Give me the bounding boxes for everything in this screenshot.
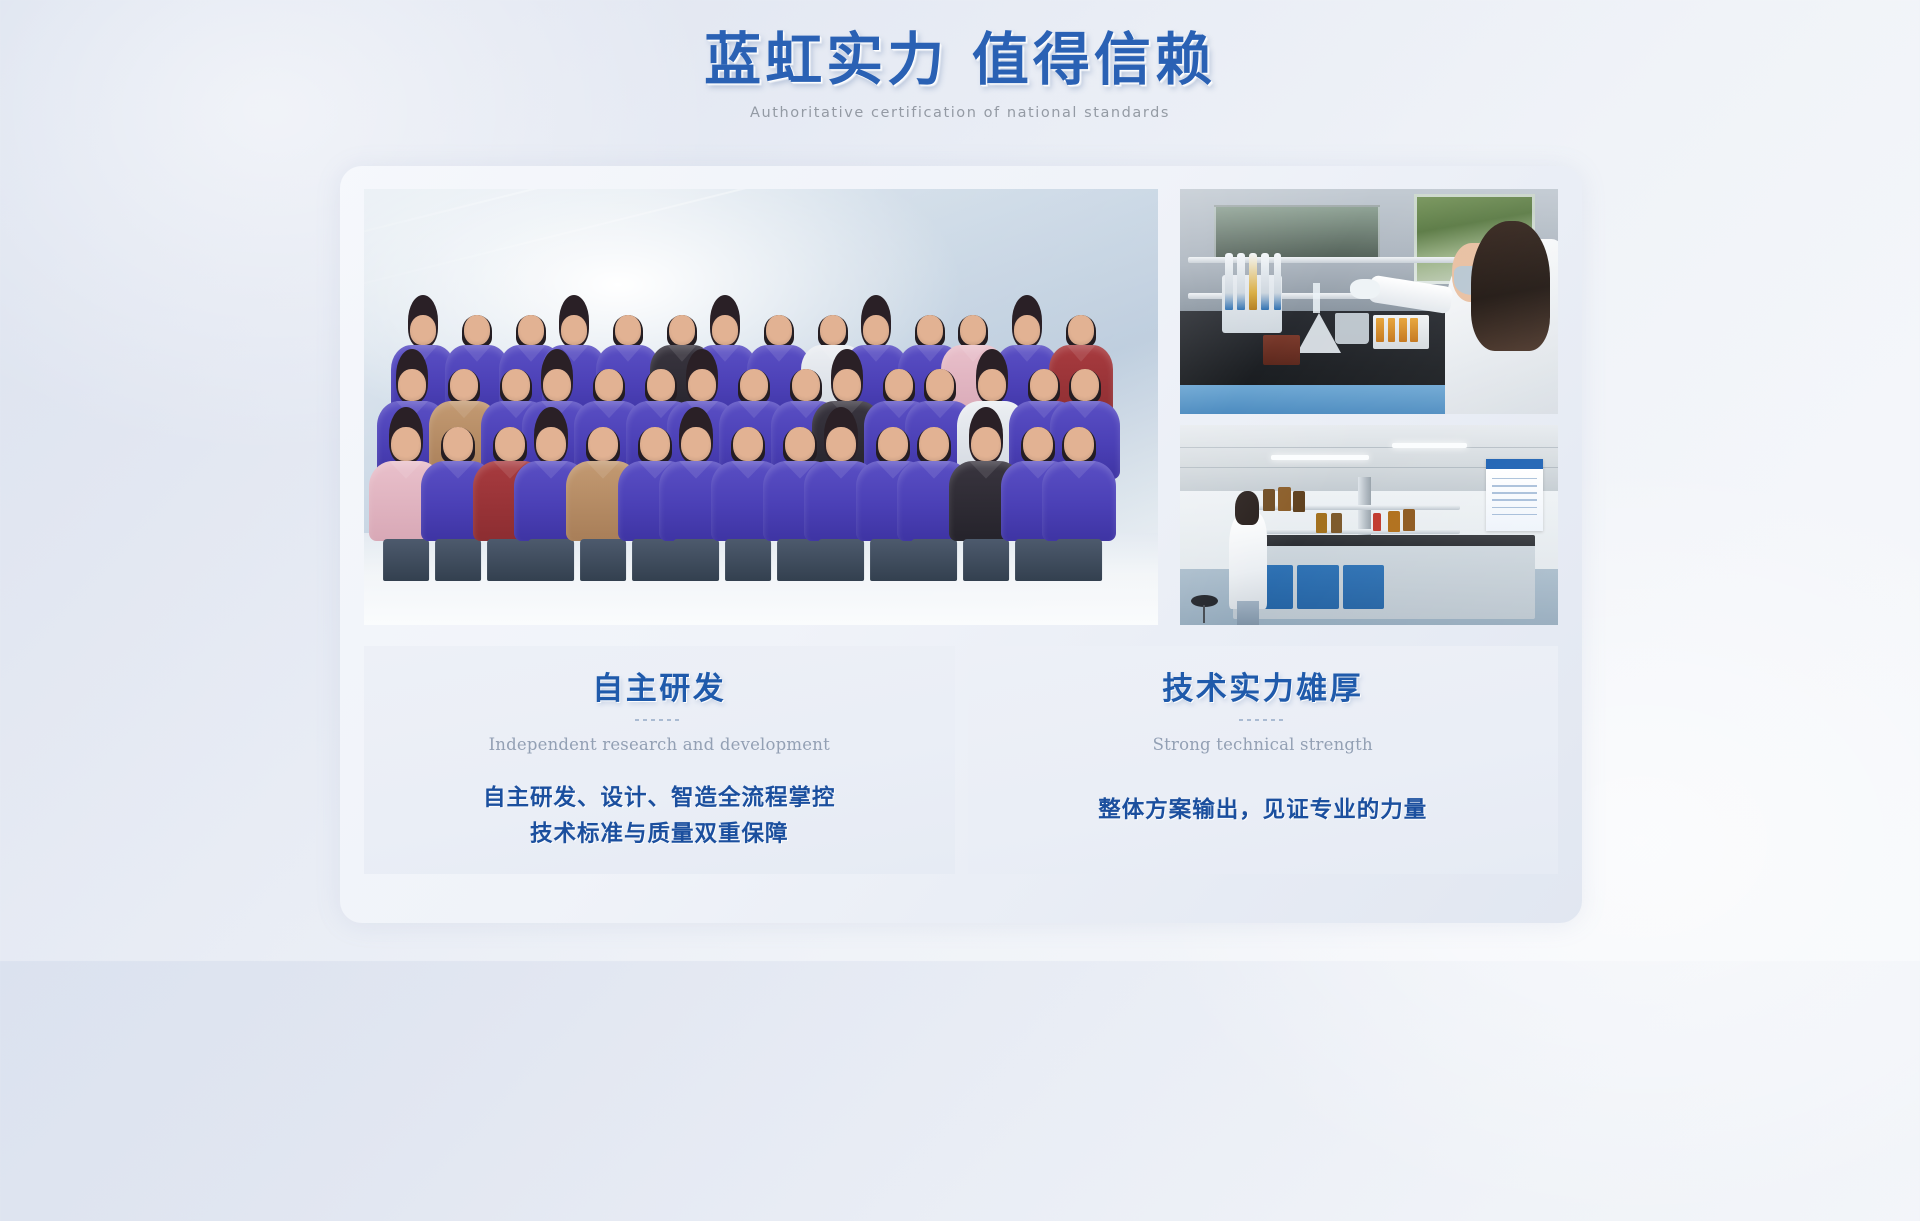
team-member-legs <box>911 539 957 581</box>
dashed-divider <box>635 719 683 721</box>
team-member-legs <box>528 539 574 581</box>
team-member-collar <box>738 401 770 418</box>
lab-b-technician-coat <box>1229 513 1267 609</box>
team-member-head <box>712 315 738 345</box>
laboratory-room-photo <box>1180 425 1558 625</box>
team-member-collar <box>1069 401 1101 418</box>
team-member-head <box>669 315 695 345</box>
team-member-legs <box>725 539 771 581</box>
team-member-collar <box>924 401 956 418</box>
lab-b-reagent-bottle <box>1388 511 1400 532</box>
team-group-photo <box>364 189 1158 625</box>
team-member-legs <box>870 539 916 581</box>
lab-a-reagent-bottle <box>1278 335 1300 365</box>
lab-a-flask-neck <box>1313 283 1320 313</box>
page-header: 蓝虹实力 值得信赖 Authoritative certification of… <box>0 26 1920 121</box>
team-member-head <box>960 315 986 345</box>
team-member-collar <box>441 461 475 479</box>
team-member-head <box>766 315 792 345</box>
team-member-legs <box>777 539 823 581</box>
team-member-legs <box>580 539 626 581</box>
page-title: 蓝虹实力 值得信赖 <box>0 26 1920 94</box>
lab-b-shelf <box>1240 529 1459 534</box>
team-member-collar <box>679 461 713 479</box>
laboratory-technician-photo <box>1180 189 1558 414</box>
team-member-head <box>917 315 943 345</box>
team-member-collar <box>593 401 625 418</box>
team-member-collar <box>534 461 568 479</box>
team-member-head <box>833 369 861 401</box>
team-member-collar <box>613 345 642 362</box>
content-panel: 自主研发 Independent research and developmen… <box>340 166 1582 923</box>
team-member-legs <box>963 539 1009 581</box>
feature-card-subtitle: Independent research and development <box>364 735 955 754</box>
feature-card-subtitle: Strong technical strength <box>968 735 1559 754</box>
team-member-head <box>615 315 641 345</box>
lab-b-reagent-bottle <box>1331 513 1342 533</box>
team-member-collar <box>917 461 951 479</box>
team-member-head <box>588 427 618 461</box>
feature-card-description: 整体方案输出，见证专业的力量 <box>968 792 1559 828</box>
media-gallery <box>364 189 1558 625</box>
team-members-crowd <box>364 271 1158 571</box>
team-member-collar <box>764 345 793 362</box>
team-member-collar <box>824 461 858 479</box>
team-member-head <box>1064 427 1094 461</box>
lab-b-reagent-bottle <box>1293 491 1305 512</box>
team-member-legs <box>818 539 864 581</box>
team-member-collar <box>1012 345 1041 362</box>
lab-b-ceiling-light <box>1392 443 1468 448</box>
lab-a-technician-hair <box>1471 221 1550 352</box>
team-member-head <box>595 369 623 401</box>
team-member-head <box>826 427 856 461</box>
team-member-head <box>733 427 763 461</box>
page-subtitle: Authoritative certification of national … <box>0 105 1920 121</box>
team-member-legs <box>435 539 481 581</box>
team-member-collar <box>586 461 620 479</box>
team-member-head <box>443 427 473 461</box>
team-member-head <box>978 369 1006 401</box>
team-member-head <box>398 369 426 401</box>
lab-a-technician-glove <box>1350 279 1380 299</box>
team-member-legs <box>1056 539 1102 581</box>
feature-card-description-line: 自主研发、设计、智造全流程掌控 <box>483 785 836 811</box>
team-member-head <box>688 369 716 401</box>
team-member-head <box>410 315 436 345</box>
lab-b-cabinet-drawer <box>1297 565 1339 609</box>
lab-b-ceiling-grid-line <box>1180 447 1558 448</box>
team-member-head <box>971 427 1001 461</box>
team-member-collar <box>1066 345 1095 362</box>
lab-b-reagent-bottle <box>1373 513 1381 531</box>
feature-cards: 自主研发 Independent research and developmen… <box>364 646 1558 874</box>
dashed-divider <box>1239 719 1287 721</box>
team-member-legs <box>1015 539 1061 581</box>
team-member-collar <box>389 461 423 479</box>
team-member-collar <box>462 345 491 362</box>
team-member-head <box>561 315 587 345</box>
feature-card-title: 技术实力雄厚 <box>968 670 1559 709</box>
lab-b-reagent-bottle <box>1316 513 1327 533</box>
team-member-head <box>391 427 421 461</box>
lab-a-pipette-stand <box>1222 275 1282 334</box>
team-member-head <box>536 427 566 461</box>
feature-card-title: 自主研发 <box>364 670 955 709</box>
lab-b-cabinet-drawer <box>1343 565 1385 609</box>
feature-card-independent-rd: 自主研发 Independent research and developmen… <box>364 646 955 874</box>
team-member-head <box>518 315 544 345</box>
team-member-legs <box>487 539 533 581</box>
team-member-head <box>820 315 846 345</box>
team-member-head <box>543 369 571 401</box>
team-member-head <box>926 369 954 401</box>
lab-b-reagent-bottle <box>1403 509 1415 531</box>
lab-a-beaker <box>1335 313 1369 345</box>
team-member-legs <box>673 539 719 581</box>
team-member-head <box>464 315 490 345</box>
lab-b-notice-board <box>1486 459 1543 531</box>
team-member-head <box>1068 315 1094 345</box>
lab-b-ceiling-light <box>1271 455 1369 460</box>
lab-b-reagent-bottle <box>1263 489 1275 511</box>
team-member-head <box>740 369 768 401</box>
team-member-head <box>1014 315 1040 345</box>
side-photo-column <box>1180 189 1558 625</box>
team-member-collar <box>448 401 480 418</box>
team-member-uniform <box>1042 461 1116 541</box>
lab-b-stool-leg <box>1203 605 1205 623</box>
team-member-head <box>681 427 711 461</box>
feature-card-description-line: 技术标准与质量双重保障 <box>530 821 789 847</box>
team-member-head <box>450 369 478 401</box>
team-member-collar <box>1062 461 1096 479</box>
team-member-collar <box>861 345 890 362</box>
team-member <box>1042 425 1116 541</box>
team-member-legs <box>632 539 678 581</box>
feature-card-description: 自主研发、设计、智造全流程掌控 技术标准与质量双重保障 <box>364 780 955 853</box>
team-member-head <box>919 427 949 461</box>
team-member-head <box>1071 369 1099 401</box>
lab-a-sample-rack <box>1373 315 1430 349</box>
team-member-head <box>863 315 889 345</box>
lab-b-reagent-bottle <box>1278 487 1291 511</box>
team-member-legs <box>383 539 429 581</box>
lab-b-technician-legs <box>1237 601 1260 625</box>
feature-card-technical-strength: 技术实力雄厚 Strong technical strength 整体方案输出，… <box>968 646 1559 874</box>
lab-b-technician-hair <box>1235 491 1260 525</box>
team-member-collar <box>731 461 765 479</box>
team-member-collar <box>969 461 1003 479</box>
feature-card-description-line: 整体方案输出，见证专业的力量 <box>1098 797 1427 823</box>
